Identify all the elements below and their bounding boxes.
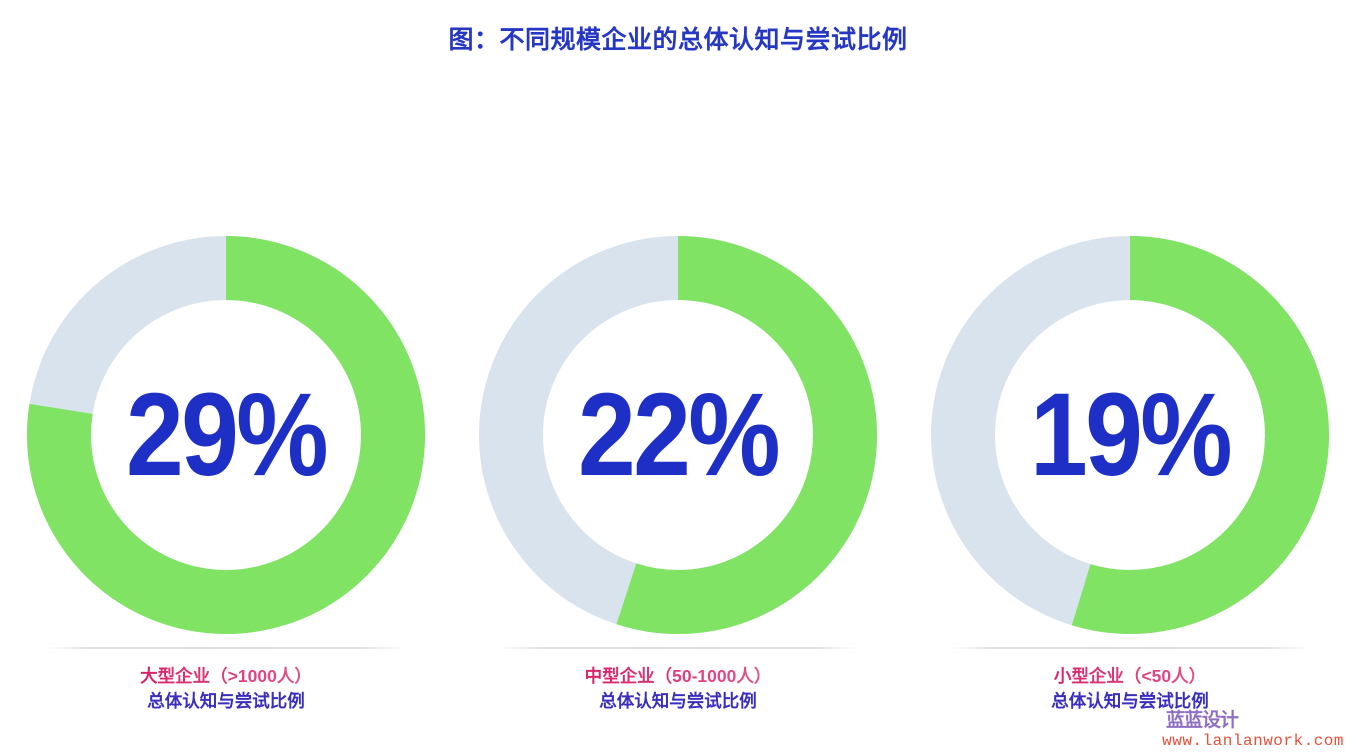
page-title: 图：不同规模企业的总体认知与尝试比例 (0, 20, 1356, 56)
donut-card-small-enterprise: 19% 小型企业（<50人） 总体认知与尝试比例 (904, 235, 1356, 713)
watermark-logo: 蓝蓝设计 (1166, 705, 1238, 732)
caption-divider (46, 647, 406, 649)
donut-caption-medium-enterprise: 中型企业（50-1000人） 总体认知与尝试比例 (498, 647, 858, 713)
caption-divider (950, 647, 1310, 649)
donut-caption-small-enterprise: 小型企业（<50人） 总体认知与尝试比例 (950, 647, 1310, 713)
caption-divider (498, 647, 858, 649)
caption-category-label: 中型企业（50-1000人） (498, 665, 858, 689)
donut-svg-medium-enterprise (478, 235, 878, 635)
donut-chart-medium-enterprise: 22% (478, 235, 878, 635)
donut-chart-large-enterprise: 29% (26, 235, 426, 635)
donut-chart-row: 29% 大型企业（>1000人） 总体认知与尝试比例 22% 中型企业（50-1… (0, 235, 1356, 735)
caption-metric-label: 总体认知与尝试比例 (46, 690, 406, 714)
donut-svg-large-enterprise (26, 235, 426, 635)
donut-card-medium-enterprise: 22% 中型企业（50-1000人） 总体认知与尝试比例 (452, 235, 904, 713)
donut-active-arc-2 (626, 268, 845, 602)
caption-metric-label: 总体认知与尝试比例 (498, 690, 858, 714)
caption-metric-label: 总体认知与尝试比例 (950, 690, 1310, 714)
donut-active-arc-3 (1081, 268, 1297, 602)
caption-category-label: 大型企业（>1000人） (46, 665, 406, 689)
donut-chart-small-enterprise: 19% (930, 235, 1330, 635)
donut-svg-small-enterprise (930, 235, 1330, 635)
caption-category-label: 小型企业（<50人） (950, 665, 1310, 689)
watermark-url: www.lanlanwork.com (1162, 732, 1344, 750)
donut-card-large-enterprise: 29% 大型企业（>1000人） 总体认知与尝试比例 (0, 235, 452, 713)
donut-caption-large-enterprise: 大型企业（>1000人） 总体认知与尝试比例 (46, 647, 406, 713)
